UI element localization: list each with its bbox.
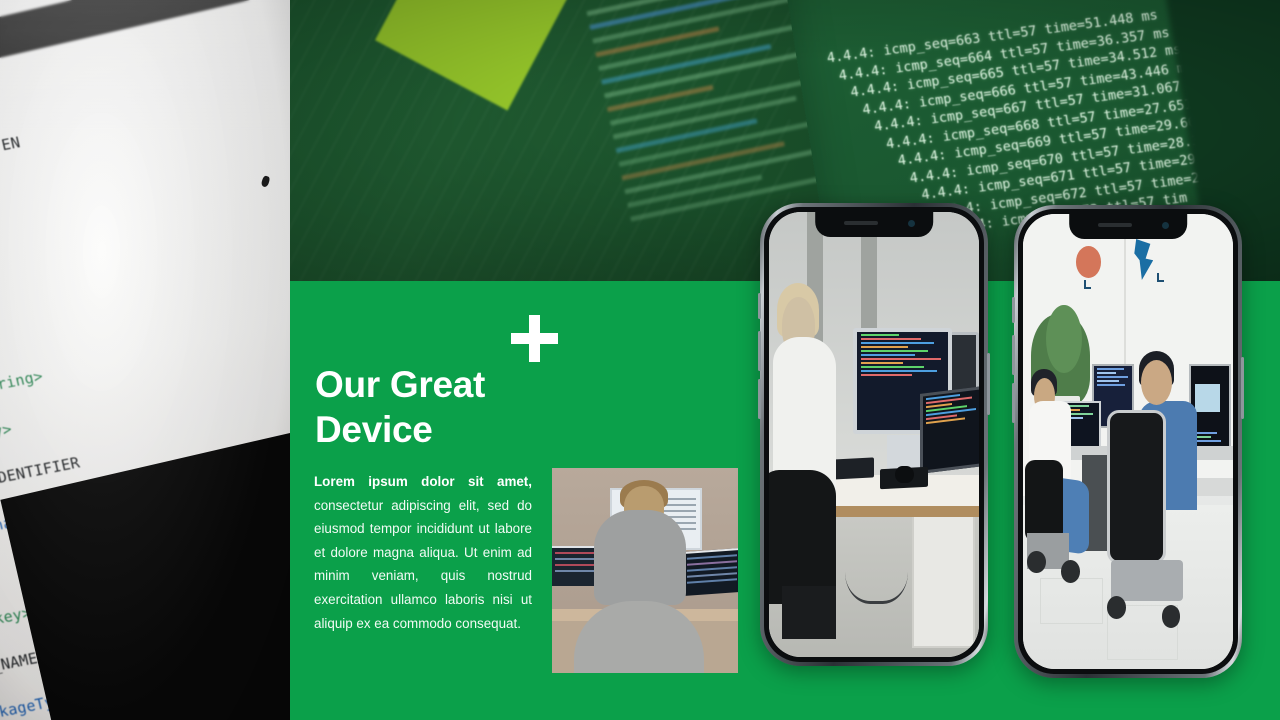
scene-cable (845, 524, 908, 604)
scene-mouse (895, 466, 914, 484)
front-camera-icon (1162, 222, 1169, 229)
earpiece-speaker-icon (844, 221, 878, 225)
wall-art-oval-icon (1076, 246, 1101, 278)
body-rest-text: consectetur adipiscing elit, sed do eius… (314, 498, 532, 631)
page-title-line-2: Device (315, 407, 585, 452)
scene-person2-head (1141, 360, 1173, 406)
page-title: Our Great Device (315, 362, 585, 452)
page-title-line-1: Our Great (315, 362, 585, 407)
phone-frame (760, 203, 988, 666)
scene-laptop (920, 386, 979, 474)
phone-bezel (764, 207, 984, 662)
wall-art-corner-icon-2 (1157, 273, 1164, 282)
front-camera-icon (908, 220, 915, 227)
chair-caster (1061, 560, 1080, 583)
office-scene-single-developer (769, 212, 979, 657)
phone-frame (1014, 205, 1242, 678)
volume-down-button[interactable] (758, 379, 761, 419)
phone-screen-right[interactable] (1023, 214, 1233, 669)
scene-person2-chair-base (1111, 560, 1182, 601)
scene-monitor-3-window (1195, 384, 1220, 412)
plus-icon (511, 315, 558, 362)
volume-up-button[interactable] (1012, 335, 1015, 375)
body-lead-sentence: Lorem ipsum dolor sit amet, (314, 474, 532, 489)
scene-chair-base (782, 586, 837, 639)
scene-cabinet (912, 506, 975, 648)
mute-switch[interactable] (758, 293, 761, 319)
phone-screen-left[interactable] (769, 212, 979, 657)
phone-bezel (1018, 209, 1238, 674)
scene-person2-chair (1107, 410, 1166, 565)
mute-switch[interactable] (1012, 297, 1015, 323)
body-paragraph: Lorem ipsum dolor sit amet, consectetur … (314, 470, 532, 635)
earpiece-speaker-icon (1098, 223, 1132, 227)
developer-at-home-desk-photo (552, 468, 738, 673)
volume-up-button[interactable] (758, 331, 761, 371)
power-button[interactable] (987, 353, 990, 415)
scene-code-1 (1094, 368, 1132, 386)
slide-canvas: ng="UTF-8"?> //Apple//DTD PLIST 1.0//EN … (0, 0, 1280, 720)
chair-caster (1107, 596, 1126, 619)
floor-tile (1040, 578, 1103, 624)
scene-code-on-screen (857, 334, 948, 376)
phone-mockup-right[interactable] (1014, 205, 1242, 678)
office-scene-two-developers (1023, 214, 1233, 669)
power-button[interactable] (1241, 357, 1244, 419)
volume-down-button[interactable] (1012, 383, 1015, 423)
photo-laptop-right (680, 548, 738, 596)
scene-plant-top (1046, 305, 1082, 373)
scene-office-chair (769, 470, 836, 604)
photo-person-torso (594, 510, 686, 605)
info-plist-source-code-photo: ng="UTF-8"?> //Apple//DTD PLIST 1.0//EN … (0, 0, 290, 720)
wall-art-corner-icon (1084, 280, 1091, 289)
phone-mockup-left[interactable] (760, 203, 988, 666)
scene-person1-chair (1025, 460, 1063, 542)
